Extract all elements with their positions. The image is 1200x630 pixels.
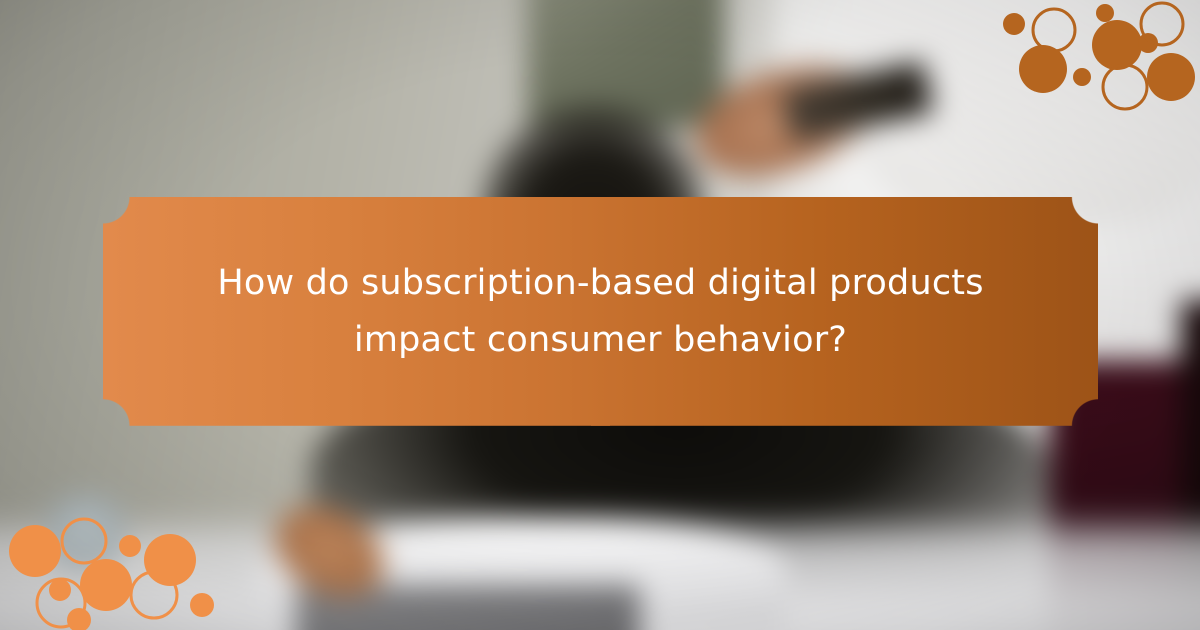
headline-banner: How do subscription-based digital produc… — [103, 197, 1098, 426]
page-title: How do subscription-based digital produc… — [163, 255, 1039, 368]
social-card-canvas: How do subscription-based digital produc… — [0, 0, 1200, 630]
